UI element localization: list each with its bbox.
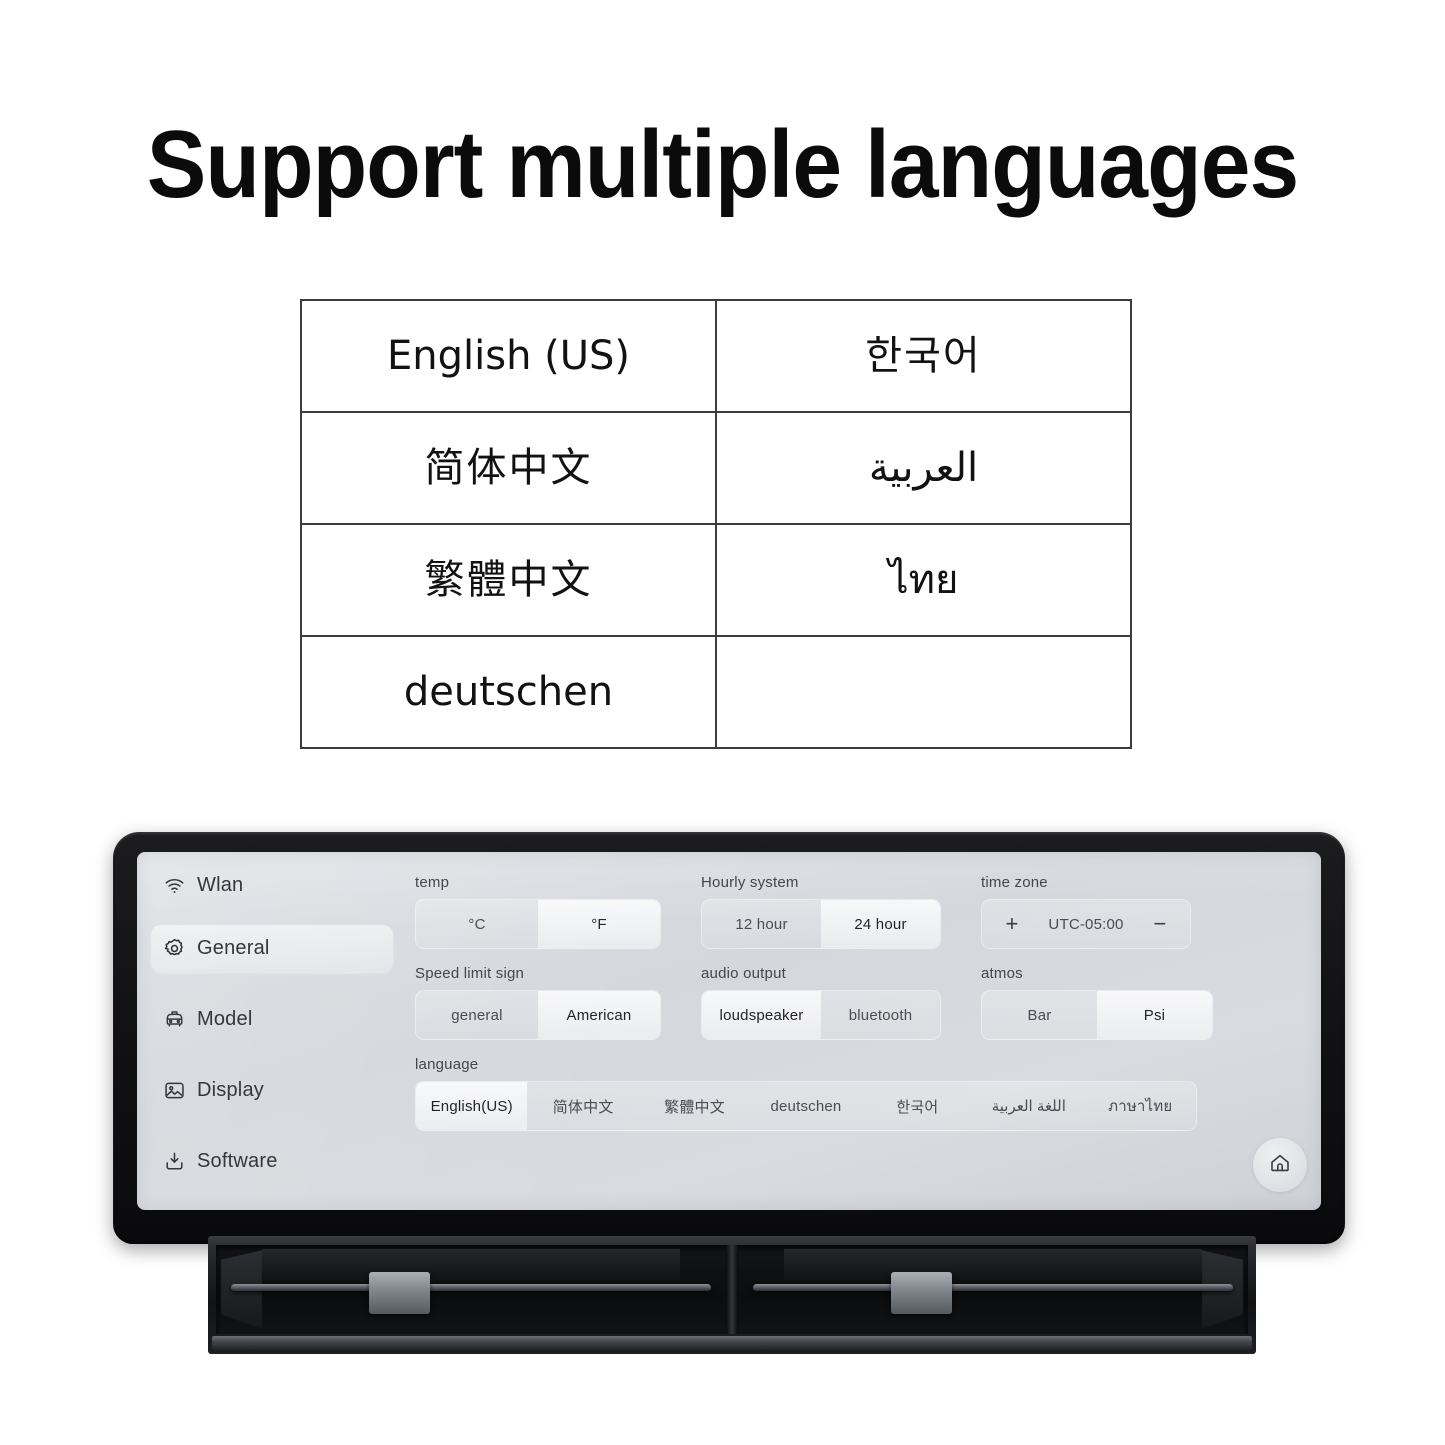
time-zone-stepper[interactable]: + UTC-05:00 − [981,899,1191,949]
language-option-traditional-chinese[interactable]: 繁體中文 [639,1082,750,1130]
hourly-option-24-hour[interactable]: 24 hour [821,900,940,948]
sidebar-item-label: Model [197,1008,252,1031]
table-row: deutschen [301,636,1131,748]
atmos-label: atmos [981,965,1213,982]
sidebar-item-wlan[interactable]: Wlan [151,862,393,909]
speed-limit-segmented-control[interactable]: general American [415,990,661,1040]
vent-cell-right [738,1245,1248,1334]
table-cell-language: 简体中文 [301,412,716,524]
temp-label: temp [415,874,661,891]
temp-segmented-control[interactable]: °C °F [415,899,661,949]
hourly-system-segmented-control[interactable]: 12 hour 24 hour [701,899,941,949]
settings-row-1: temp °C °F Hourly system 12 hour 24 hour… [415,874,1307,949]
atmos-option-bar[interactable]: Bar [982,991,1097,1039]
vent-upper-shade [784,1249,1202,1285]
hourly-system-label: Hourly system [701,874,941,891]
setting-group-speed-limit-sign: Speed limit sign general American [415,965,661,1040]
language-option-simplified-chinese[interactable]: 简体中文 [527,1082,638,1130]
sidebar-item-software[interactable]: Software [151,1138,393,1185]
hourly-option-12-hour[interactable]: 12 hour [702,900,821,948]
setting-group-time-zone: time zone + UTC-05:00 − [981,874,1191,949]
setting-group-language: language English(US) 简体中文 繁體中文 deutschen… [415,1056,1307,1131]
vent-opening [216,1245,1248,1334]
air-vent-assembly [208,1236,1256,1354]
vent-upper-shade [262,1249,680,1285]
sidebar-item-display[interactable]: Display [151,1067,393,1114]
audio-option-bluetooth[interactable]: bluetooth [821,991,940,1039]
speed-limit-option-general[interactable]: general [416,991,538,1039]
setting-group-temp: temp °C °F [415,874,661,949]
page-title: Support multiple languages [51,112,1395,218]
setting-group-audio-output: audio output loudspeaker bluetooth [701,965,941,1040]
sidebar-item-model[interactable]: Model [151,996,393,1043]
table-cell-language: deutschen [301,636,716,748]
table-cell-language: 한국어 [716,300,1131,412]
language-option-german[interactable]: deutschen [750,1082,861,1130]
sidebar-item-general[interactable]: General [151,925,393,972]
atmos-option-psi[interactable]: Psi [1097,991,1212,1039]
table-cell-language: English (US) [301,300,716,412]
vent-cell-left [216,1245,726,1334]
language-label: language [415,1056,1307,1073]
sidebar-item-label: General [197,937,270,960]
settings-sidebar: Wlan General [137,852,407,1210]
home-icon [1268,1151,1292,1180]
vent-slat[interactable] [231,1284,710,1291]
time-zone-increment-button[interactable]: + [982,900,1042,948]
temp-option-fahrenheit[interactable]: °F [538,900,660,948]
atmos-segmented-control[interactable]: Bar Psi [981,990,1213,1040]
settings-panel: temp °C °F Hourly system 12 hour 24 hour… [415,874,1307,1200]
language-table: English (US) 한국어 简体中文 العربية 繁體中文 ไทย d… [300,299,1132,749]
vent-divider [726,1245,738,1334]
sidebar-item-label: Software [197,1150,278,1173]
car-icon [161,1007,187,1033]
table-row: English (US) 한국어 [301,300,1131,412]
vent-adjust-knob[interactable] [891,1272,952,1315]
wifi-icon [161,873,187,899]
table-cell-empty [716,636,1131,748]
sidebar-item-label: Wlan [197,874,243,897]
home-button[interactable] [1253,1138,1307,1192]
temp-option-celsius[interactable]: °C [416,900,538,948]
settings-row-2: Speed limit sign general American audio … [415,965,1307,1040]
settings-row-3: language English(US) 简体中文 繁體中文 deutschen… [415,1056,1307,1131]
audio-output-segmented-control[interactable]: loudspeaker bluetooth [701,990,941,1040]
download-icon [161,1149,187,1175]
table-row: 繁體中文 ไทย [301,524,1131,636]
setting-group-hourly-system: Hourly system 12 hour 24 hour [701,874,941,949]
table-cell-language: العربية [716,412,1131,524]
image-icon [161,1078,187,1104]
table-cell-language: 繁體中文 [301,524,716,636]
language-option-thai[interactable]: ภาษาไทย [1085,1082,1196,1130]
vent-slat[interactable] [753,1284,1232,1291]
vent-adjust-knob[interactable] [369,1272,430,1315]
language-segmented-control[interactable]: English(US) 简体中文 繁體中文 deutschen 한국어 اللغ… [415,1081,1197,1131]
table-cell-language: ไทย [716,524,1131,636]
language-option-arabic[interactable]: اللغة العربية [973,1082,1084,1130]
time-zone-value: UTC-05:00 [1042,900,1130,948]
time-zone-label: time zone [981,874,1191,891]
table-row: 简体中文 العربية [301,412,1131,524]
speed-limit-option-american[interactable]: American [538,991,660,1039]
language-option-korean[interactable]: 한국어 [862,1082,973,1130]
setting-group-atmos: atmos Bar Psi [981,965,1213,1040]
language-option-english[interactable]: English(US) [416,1082,527,1130]
device-screen: Wlan General [137,852,1321,1210]
audio-option-loudspeaker[interactable]: loudspeaker [702,991,821,1039]
sidebar-item-label: Display [197,1079,264,1102]
speed-limit-sign-label: Speed limit sign [415,965,661,982]
car-head-unit-device: Wlan General [113,832,1345,1244]
vent-base-trim [212,1336,1252,1350]
gear-icon [161,936,187,962]
audio-output-label: audio output [701,965,941,982]
time-zone-decrement-button[interactable]: − [1130,900,1190,948]
